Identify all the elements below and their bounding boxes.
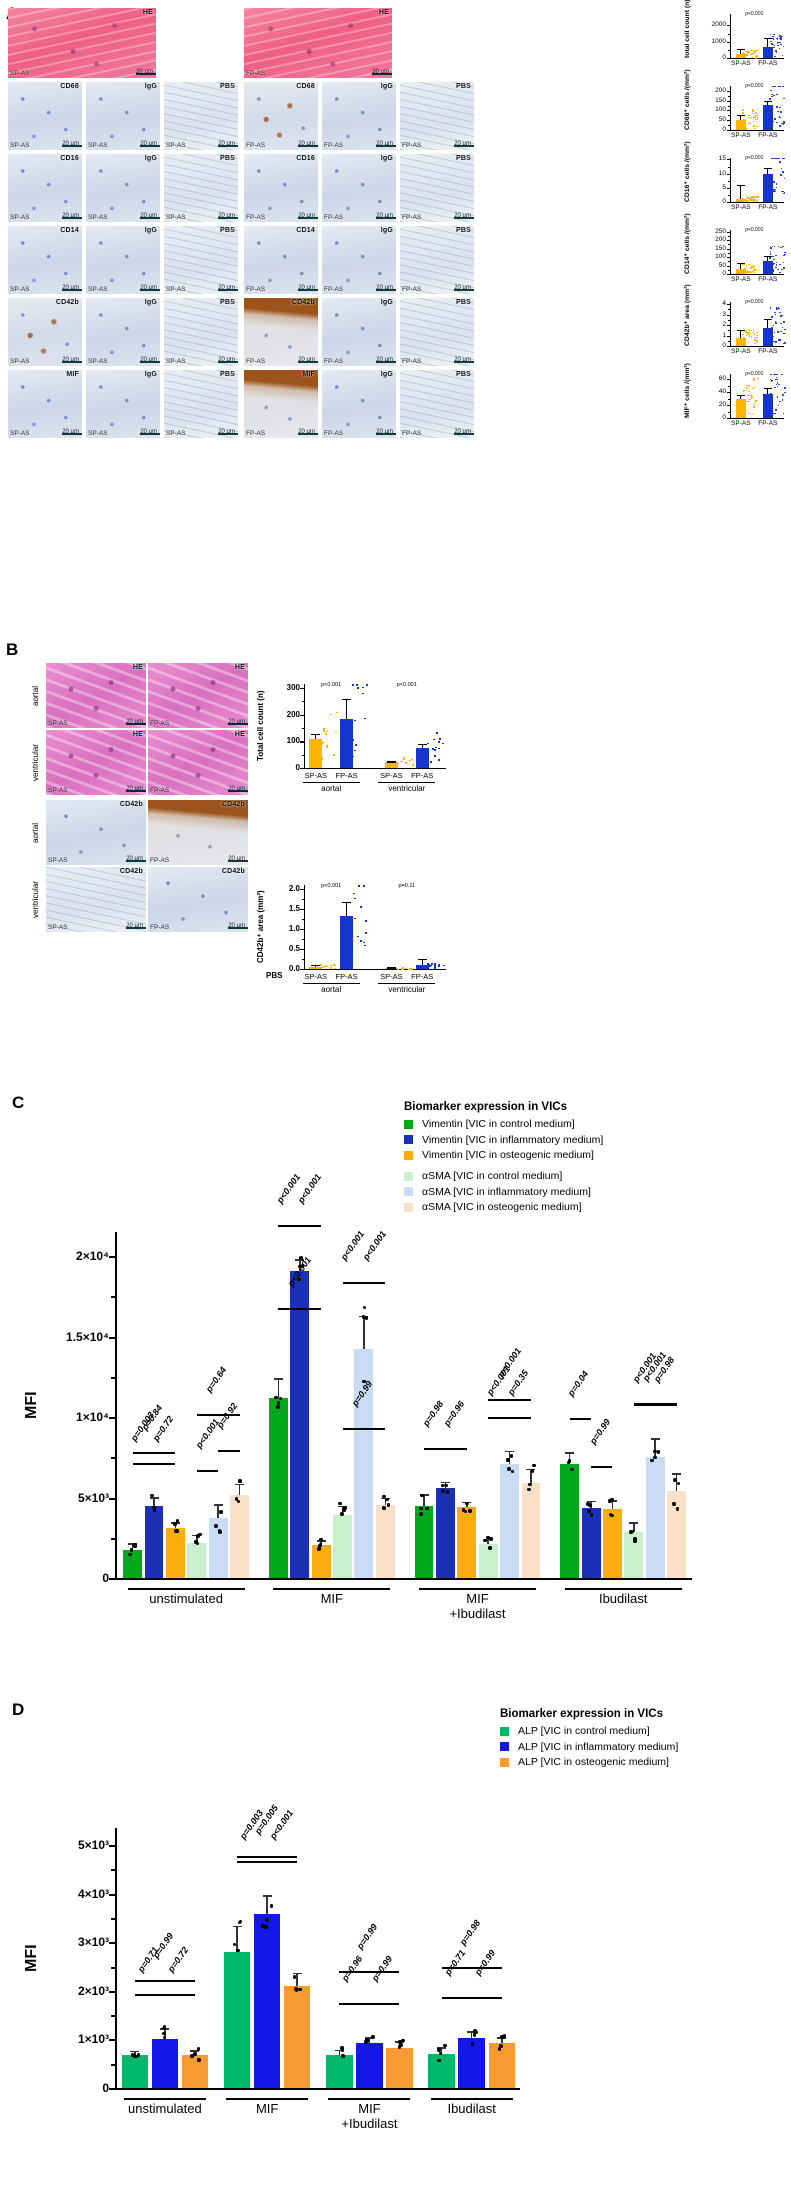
data-point [771,316,773,317]
data-point [776,183,778,184]
data-point [770,56,772,57]
data-point [776,122,778,123]
scale-bar-line [228,790,248,793]
data-point [783,121,785,122]
data-point [779,42,781,43]
y-axis-label: CD68⁺ cells /(mm²) [684,86,692,130]
data-point [162,2027,166,2031]
significance-line [369,2003,399,2005]
data-point [784,254,786,255]
scale-bar-line [62,217,82,220]
legend-item: Vimentin [VIC in inflammatory medium] [404,1134,603,1146]
micrograph-tile: CD16FP-AS20 µm [244,154,318,222]
data-point [771,327,773,328]
data-point [754,272,756,273]
data-point [343,1506,347,1510]
chart-d: 01×10³2×10³3×10³4×10³5×10³MFIp=0.71p=0.7… [0,1760,700,2160]
bar [522,1483,541,1578]
data-point [488,1546,492,1550]
data-point [363,1306,367,1310]
y-axis-label: total cell count (n) [684,14,691,58]
y-axis-label: CD42b⁺ area (mm²) [684,302,692,346]
y-minor-tick [111,1967,115,1969]
data-point [771,319,773,320]
micrograph-group-label: FP-AS [324,358,343,365]
data-point [770,251,772,252]
data-point [776,94,778,95]
data-point [770,247,772,248]
micrograph-tile: IgGFP-AS20 µm [322,82,396,150]
y-tick [727,202,731,203]
scale-bar-line [228,860,248,863]
data-point [770,185,772,186]
y-minor-tick [302,701,305,702]
data-point [409,760,411,762]
data-point [770,90,772,91]
y-minor-tick [111,1869,115,1871]
scale-bar: 20 µm [376,286,393,291]
data-point [434,966,436,968]
data-point [744,264,746,265]
scale-bar-line [126,723,146,726]
data-point [748,332,750,333]
data-point [412,764,414,766]
data-point [321,742,323,744]
micrograph-group-label: FP-AS [324,214,343,221]
bar [428,2054,454,2088]
data-point [173,1522,177,1526]
significance-line [510,1417,531,1419]
y-tick [300,715,304,716]
y-axis [304,684,305,768]
significance-line [218,1450,239,1452]
scale-bar: 20 µm [136,70,153,75]
data-point [755,115,757,116]
y-tick-label: 150 [696,97,726,104]
data-point [174,1529,178,1533]
significance-line [278,1225,299,1227]
scale-bar-line [376,289,396,292]
data-point [780,323,782,324]
micrograph-group-label: SP-AS [88,358,108,365]
data-point [776,106,778,107]
data-point [743,328,745,329]
significance-line [488,1417,509,1419]
scale-bar-line [136,73,156,76]
legend-swatch [404,1203,413,1212]
y-axis [730,230,731,274]
data-point [773,181,775,182]
data-point [351,725,353,727]
y-tick-label: 1.5 [268,904,300,913]
data-point [748,115,750,116]
data-point [773,190,775,191]
data-point [773,259,775,260]
micrograph-tile: IgGSP-AS20 µm [86,226,160,294]
y-tick-label: 15 [696,155,726,162]
y-tick [727,405,731,406]
data-point [586,1502,590,1506]
y-minor-tick [302,728,305,729]
data-point [750,118,752,119]
y-tick-label: 200 [696,87,726,94]
data-point [357,936,359,938]
data-point [748,413,750,414]
micrograph-tile: HESP-AS20 µm [46,730,146,795]
micrograph-stain-label: CD42b [120,801,143,808]
y-tick [300,741,304,742]
data-point [443,2044,447,2048]
x-axis [730,346,784,347]
data-point [783,98,785,99]
data-point [434,749,436,751]
p-value-label: p=0.98 [458,1919,482,1948]
data-point [754,116,756,117]
micrograph-tile: MIFFP-AS20 µm [244,370,318,438]
data-point [742,334,744,335]
data-point [434,963,436,965]
y-tick-label: 3 [696,311,726,318]
p-value-label: p=0.71 [442,1948,466,1977]
micrograph-stain-label: CD42b [56,299,79,306]
data-point [772,54,774,55]
y-tick-label: 150 [696,245,726,252]
panel-b-row-label: aortal [31,663,40,728]
error-cap [737,49,745,50]
error-cap [233,1926,242,1928]
y-minor-tick [728,386,730,387]
data-point [326,745,328,747]
x-axis [304,969,446,970]
micrograph-group-label: FP-AS [324,142,343,149]
data-point [753,121,755,122]
y-tick [727,418,731,419]
y-tick [727,232,731,233]
legend-item: αSMA [VIC in osteogenic medium] [404,1201,603,1213]
micrograph-stain-label: HE [235,731,245,738]
data-point [330,965,332,967]
significance-line [154,1463,175,1465]
data-point [506,1458,510,1462]
y-minor-tick [302,755,305,756]
bar [667,1491,686,1578]
scale-bar: 20 µm [62,286,79,291]
data-point [774,118,776,119]
micrograph-group-label: SP-AS [166,286,186,293]
scale-bar-line [454,433,474,436]
error-bar [266,1895,268,1914]
significance-line [591,1466,612,1468]
scale-bar-line [376,217,396,220]
y-tick [727,159,731,160]
legend-item: Vimentin [VIC in osteogenic medium] [404,1149,603,1161]
p-value-label: p=0.99 [355,1922,379,1951]
scale-bar-line [376,361,396,364]
scale-bar: 20 µm [372,70,389,75]
micrograph-tile: IgGSP-AS20 µm [86,370,160,438]
chart-a1: 010002000total cell count (n)SP-ASFP-ASp… [690,6,788,70]
scale-bar-line [298,433,318,436]
data-point [750,123,752,124]
micrograph-stain-label: CD16 [296,155,315,162]
significance-line [135,1980,195,1982]
legend-item: αSMA [VIC in control medium] [404,1170,603,1182]
data-point [782,86,784,87]
error-cap [214,1504,223,1506]
data-point [747,385,749,386]
data-point [325,733,327,735]
y-minor-tick [728,195,730,196]
data-point [507,1467,511,1471]
data-point [771,337,773,338]
scale-bar-line [376,145,396,148]
data-point [753,331,755,332]
scale-bar: 20 µm [126,924,143,929]
data-point [777,158,779,159]
bar [763,105,773,130]
data-point [742,57,744,58]
micrograph-group-label: FP-AS [324,430,343,437]
p-value-label: p=0.96 [340,1955,364,1984]
data-point [755,112,757,113]
data-point [773,341,775,342]
data-point [197,2058,201,2062]
data-point [774,34,776,35]
error-cap [263,1895,272,1897]
scale-bar-line [62,145,82,148]
data-point [777,396,779,397]
data-point [401,968,403,970]
data-point [330,967,332,969]
data-point [751,53,753,54]
data-point [442,743,444,745]
data-point [757,337,759,338]
data-point [756,340,758,341]
bar [333,1515,352,1578]
data-point [756,335,758,336]
scale-bar-line [454,289,474,292]
chart-b1: 0100200300Total cell count (n)SP-ASFP-AS… [252,672,452,802]
micrograph-stain-label: IgG [381,227,393,234]
data-point [751,336,753,337]
data-point [757,378,759,379]
micrograph-group-label: FP-AS [246,70,265,77]
micrograph-group-label: FP-AS [150,857,169,864]
data-point [746,201,748,202]
y-tick [300,949,304,950]
group-label: aortal [303,784,360,793]
data-point [779,125,781,126]
data-point [742,53,744,54]
data-point [774,332,776,333]
data-point [403,758,405,760]
micrograph-group-label: SP-AS [166,430,186,437]
error-cap [342,699,351,700]
micrograph-tile: HESP-AS20 µm [46,663,146,728]
micrograph-tile: CD14SP-AS20 µm [8,226,82,294]
y-tick-label: 2.0 [268,884,300,893]
micrograph-stain-label: IgG [381,371,393,378]
data-point [749,399,751,400]
data-point [239,1920,243,1924]
bar [152,2039,178,2088]
micrograph-group-label: FP-AS [150,787,169,794]
x-category-label: FP-AS [746,276,790,283]
data-point [274,1396,278,1400]
data-point [776,255,778,256]
data-point [769,257,771,258]
data-point [753,197,755,198]
x-category-label: FP-AS [327,972,367,981]
data-point [778,86,780,87]
data-point [782,246,784,247]
y-axis [730,374,731,418]
data-point [779,116,781,117]
bar [284,1986,310,2088]
y-axis-label: MFI [23,1232,41,1578]
data-point [363,885,365,887]
y-minor-tick [728,412,730,413]
data-point [498,2047,502,2051]
data-point [365,920,367,922]
micrograph-tile: PBSSP-AS20 µm [164,154,238,222]
data-point [776,374,778,375]
data-point [780,44,782,45]
y-tick [300,889,304,890]
scale-bar-line [372,73,392,76]
data-point [672,1502,676,1506]
y-tick [109,1845,115,1847]
y-tick [727,274,731,275]
data-point [336,712,338,714]
data-point [443,965,445,967]
significance-line [364,1282,385,1284]
scale-bar-line [140,289,160,292]
data-point [783,123,785,124]
data-point [747,197,749,198]
data-point [751,395,753,396]
scale-bar: 20 µm [62,430,79,435]
micrograph-tile: PBSSP-AS20 µm [164,226,238,294]
legend-label: αSMA [VIC in inflammatory medium] [422,1186,591,1198]
data-point [757,400,759,401]
x-category-label: FP-AS [327,771,367,780]
data-point [365,1316,369,1320]
data-point [405,762,407,764]
p-value-label: p<0.001 [742,299,766,305]
micrograph-stain-label: CD14 [296,227,315,234]
data-point [438,741,440,743]
y-axis [115,1232,117,1578]
data-point [474,2031,478,2035]
data-point [326,746,328,748]
micrograph-group-label: FP-AS [402,358,421,365]
data-point [218,1530,222,1534]
micrograph-stain-label: PBS [220,371,235,378]
y-tick-label: 1.5×10⁴ [55,1330,109,1344]
y-tick [727,130,731,131]
micrograph-group-label: FP-AS [246,142,265,149]
micrograph-group-label: FP-AS [402,286,421,293]
micrograph-stain-label: CD42b [222,868,245,875]
data-point [334,968,336,970]
data-point [366,684,368,686]
y-tick [300,929,304,930]
data-point [774,312,776,313]
micrograph-group-label: FP-AS [246,430,265,437]
data-point [778,405,780,406]
micrograph-group-label: SP-AS [88,286,108,293]
chart-a6: 0204060MIF⁺ cells /(mm²)SP-ASFP-ASp<0.00… [690,366,788,430]
data-point [769,98,771,99]
scale-bar: 20 µm [228,787,245,792]
legend-item: ALP [VIC in osteogenic medium] [500,1756,678,1768]
data-point [364,945,366,947]
data-point [773,263,775,264]
data-point [782,327,784,328]
y-minor-tick [302,959,305,960]
y-tick-label: 2×10⁴ [55,1249,109,1263]
data-point [753,329,755,330]
scale-bar-line [218,145,238,148]
scale-bar: 20 µm [376,430,393,435]
micrograph-stain-label: PBS [456,155,471,162]
x-category-label: FP-AS [746,420,790,427]
scale-bar-line [140,145,160,148]
scale-bar-line [298,217,318,220]
micrograph-stain-label: CD68 [296,83,315,90]
error-cap [311,965,320,966]
scale-bar-line [126,860,146,863]
data-point [385,1498,389,1502]
data-point [784,252,786,253]
micrograph-group-label: SP-AS [10,214,30,221]
micrograph-tile: CD42bSP-AS20 µm [8,298,82,366]
data-point [772,408,774,409]
legend-panel-c: Biomarker expression in VICs Vimentin [V… [404,1101,603,1217]
micrograph-group-label: SP-AS [88,214,108,221]
data-point [190,2054,194,2058]
y-tick-label: 100 [268,736,300,745]
data-point [270,1904,274,1908]
error-cap [311,734,320,735]
bar [224,1952,250,2088]
group-bracket [303,782,360,783]
p-value-label: p<0.001 [742,83,766,89]
data-point [771,269,773,270]
scale-bar-line [218,289,238,292]
micrograph-tile: PBSFP-AS20 µm [400,370,474,438]
data-point [405,968,407,970]
y-minor-tick [111,2015,115,2017]
bar [763,174,773,202]
data-point [360,906,362,908]
data-point [354,918,356,920]
data-point [746,410,748,411]
error-cap [150,1497,159,1499]
scale-bar-line [140,433,160,436]
data-point [770,112,772,113]
y-minor-tick [728,50,730,51]
data-point [748,401,750,402]
data-point [352,739,354,741]
data-point [321,758,323,760]
error-cap [274,1378,283,1380]
data-point [751,414,753,415]
micrograph-tile: CD42bFP-AS20 µm [148,867,248,932]
y-minor-tick [728,330,730,331]
scale-bar: 20 µm [376,214,393,219]
